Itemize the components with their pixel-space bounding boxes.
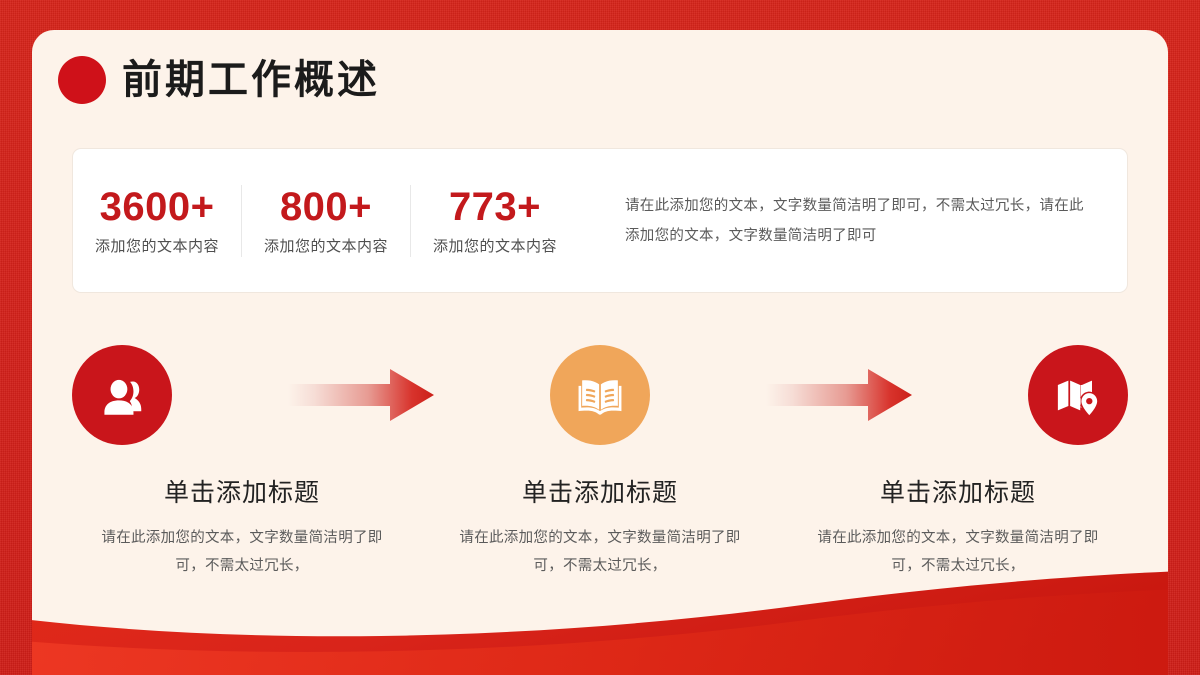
stat-label: 添加您的文本内容 [411,235,579,256]
arrow-right-icon-1 [286,367,436,423]
open-book-icon [572,367,628,423]
page-title: 前期工作概述 [122,60,380,100]
stat-label: 添加您的文本内容 [73,235,241,256]
slide-header: 前期工作概述 [58,56,380,104]
captions-row: 单击添加标题 请在此添加您的文本，文字数量简洁明了即可，不需太过冗长， 单击添加… [72,478,1128,580]
process-row [72,330,1128,460]
arrow-right-icon-2 [764,367,914,423]
step-icon-book[interactable] [550,345,650,445]
stat-item-3: 773+ 添加您的文本内容 [411,186,579,256]
stat-item-1: 3600+ 添加您的文本内容 [73,186,241,256]
caption-title: 单击添加标题 [788,478,1128,508]
content-panel: 前期工作概述 3600+ 添加您的文本内容 800+ 添加您的文本内容 773+… [32,30,1168,675]
caption-body: 请在此添加您的文本，文字数量简洁明了即可，不需太过冗长， [430,524,770,580]
stat-value: 800+ [242,186,410,228]
header-bullet-icon [58,56,106,104]
step-icon-map[interactable] [1028,345,1128,445]
caption-body: 请在此添加您的文本，文字数量简洁明了即可，不需太过冗长， [72,524,412,580]
caption-title: 单击添加标题 [72,478,412,508]
slide-root: 前期工作概述 3600+ 添加您的文本内容 800+ 添加您的文本内容 773+… [0,0,1200,675]
stats-card: 3600+ 添加您的文本内容 800+ 添加您的文本内容 773+ 添加您的文本… [72,148,1128,293]
stat-value: 773+ [411,186,579,228]
stat-label: 添加您的文本内容 [242,235,410,256]
caption-body: 请在此添加您的文本，文字数量简洁明了即可，不需太过冗长， [788,524,1128,580]
stat-item-2: 800+ 添加您的文本内容 [242,186,410,256]
stats-description: 请在此添加您的文本，文字数量简洁明了即可，不需太过冗长，请在此添加您的文本，文字… [625,191,1091,251]
users-icon [94,367,150,423]
map-pin-icon [1050,367,1106,423]
caption-block-2: 单击添加标题 请在此添加您的文本，文字数量简洁明了即可，不需太过冗长， [430,478,770,580]
caption-title: 单击添加标题 [430,478,770,508]
stat-value: 3600+ [73,186,241,228]
caption-block-3: 单击添加标题 请在此添加您的文本，文字数量简洁明了即可，不需太过冗长， [788,478,1128,580]
caption-block-1: 单击添加标题 请在此添加您的文本，文字数量简洁明了即可，不需太过冗长， [72,478,412,580]
step-icon-users[interactable] [72,345,172,445]
